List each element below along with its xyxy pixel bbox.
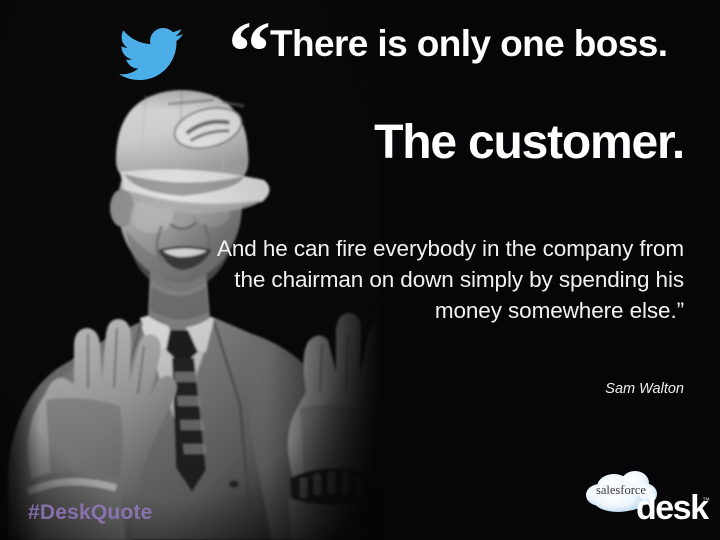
headline-line-2: The customer. [210, 118, 684, 168]
headline-line-1: There is only one boss. [270, 25, 684, 64]
salesforce-desk-logo: salesforce desk ™ [578, 463, 710, 525]
hashtag-deskquote: #DeskQuote [28, 501, 153, 525]
quote-body-text: And he can fire everybody in the company… [180, 233, 684, 326]
twitter-bird-icon [118, 22, 184, 86]
quote-attribution: Sam Walton [400, 381, 684, 397]
open-quote-mark: “ [228, 8, 269, 94]
trademark-symbol: ™ [702, 496, 710, 505]
desk-wordmark: desk [636, 489, 709, 525]
quote-slide: “ There is only one boss. The customer. … [0, 0, 720, 540]
